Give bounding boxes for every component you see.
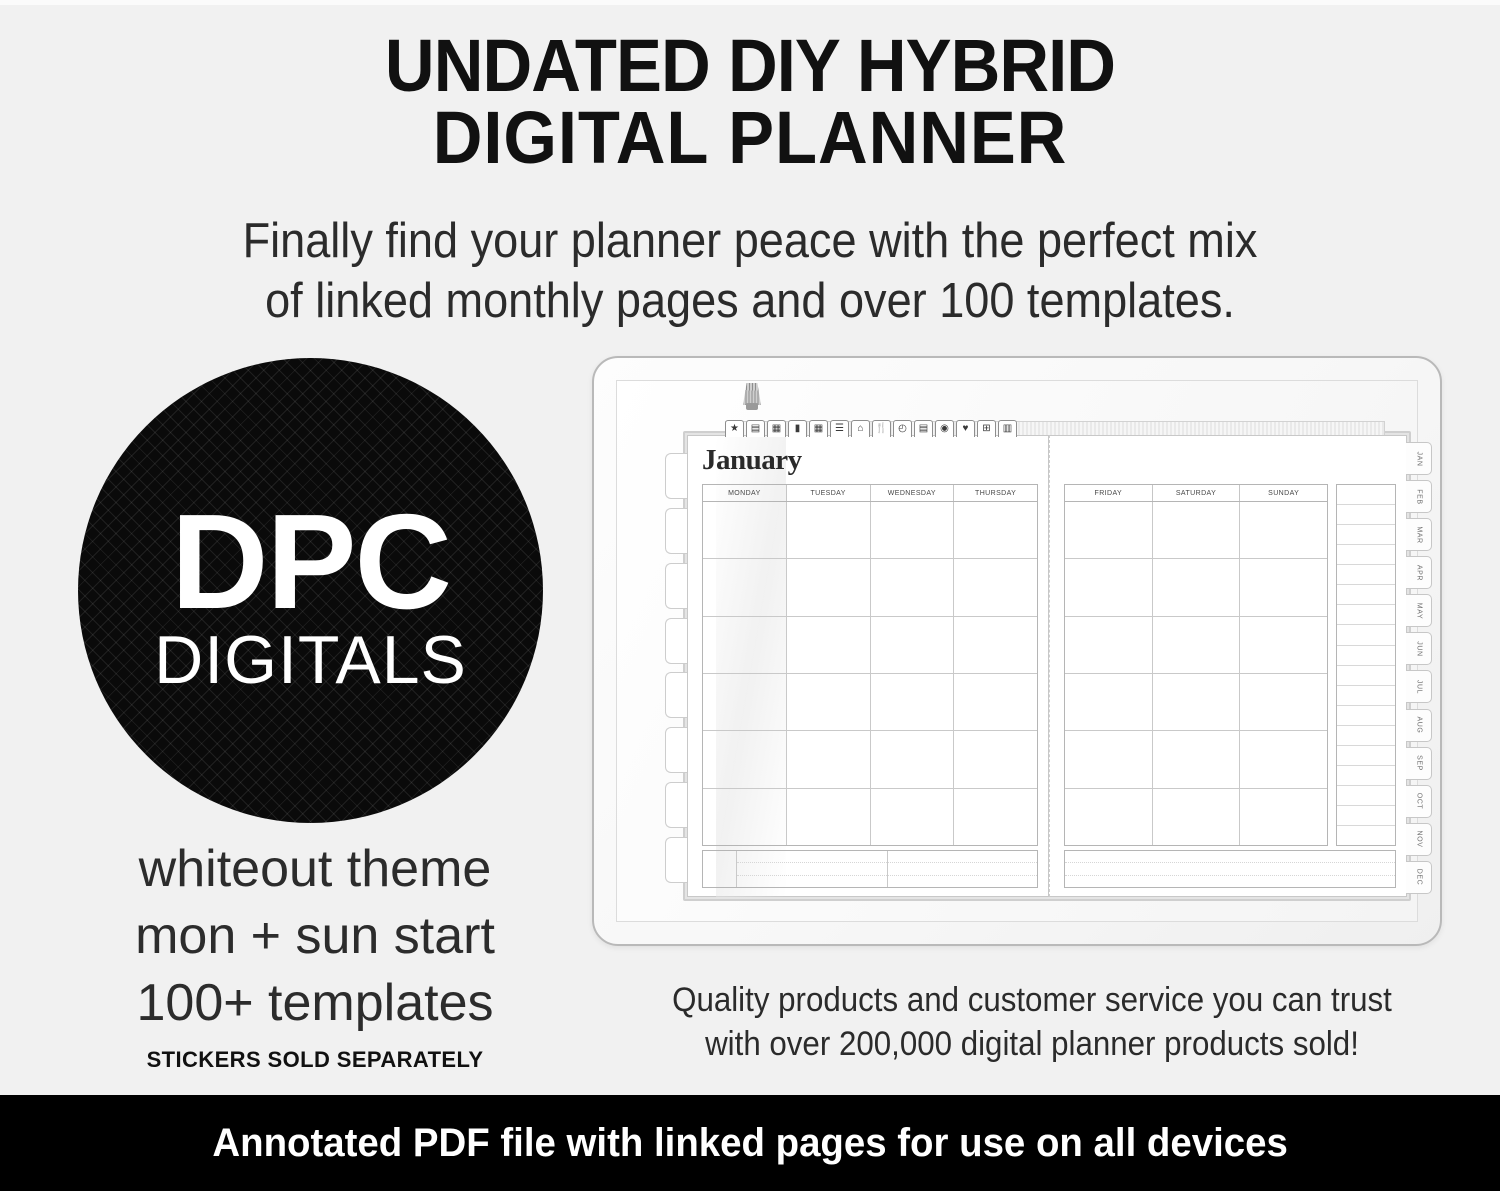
calendar-day-cell[interactable] xyxy=(703,674,787,730)
calendar-icon[interactable]: ▤ xyxy=(746,420,765,437)
list-icon[interactable]: ☰ xyxy=(830,420,849,437)
bottom-notes-left[interactable] xyxy=(702,850,1038,888)
star-icon[interactable]: ★ xyxy=(725,420,744,437)
calendar-day-cell[interactable] xyxy=(1065,731,1153,787)
month-tab-jan[interactable]: JAN xyxy=(1406,442,1432,475)
side-notes-column[interactable] xyxy=(1336,484,1396,846)
trust-line-1: Quality products and customer service yo… xyxy=(627,978,1437,1022)
note-line[interactable] xyxy=(1337,746,1395,766)
calendar-week-row xyxy=(703,789,1037,845)
subheadline-line-2: of linked monthly pages and over 100 tem… xyxy=(60,272,1440,332)
calendar-day-cell[interactable] xyxy=(703,502,787,558)
health-icon[interactable]: ⊞ xyxy=(977,420,996,437)
section-tab[interactable] xyxy=(665,727,687,773)
month-tabs[interactable]: JANFEBMARAPRMAYJUNJULAUGSEPOCTNOVDEC xyxy=(1406,442,1432,894)
logo-circle: DPC DIGITALS xyxy=(78,358,543,823)
bottom-notes-right[interactable] xyxy=(1064,850,1396,888)
weekday-label: THURSDAY xyxy=(954,485,1037,501)
month-tab-oct[interactable]: OCT xyxy=(1406,785,1432,818)
calendar-week-row xyxy=(703,559,1037,616)
weekday-label: FRIDAY xyxy=(1065,485,1153,501)
weekday-label: MONDAY xyxy=(703,485,787,501)
calendar-week-row xyxy=(703,731,1037,788)
note-line[interactable] xyxy=(1337,625,1395,645)
heart-icon[interactable]: ♥ xyxy=(956,420,975,437)
note-line[interactable] xyxy=(1337,485,1395,505)
bookmark-icon[interactable]: ▮ xyxy=(788,420,807,437)
trust-line-2: with over 200,000 digital planner produc… xyxy=(627,1022,1437,1066)
note-line[interactable] xyxy=(1337,605,1395,625)
calendar-day-cell[interactable] xyxy=(1065,789,1153,845)
month-tab-apr[interactable]: APR xyxy=(1406,556,1432,589)
note-line[interactable] xyxy=(1337,766,1395,786)
note-line[interactable] xyxy=(1337,806,1395,826)
note-line[interactable] xyxy=(1337,726,1395,746)
section-tab[interactable] xyxy=(665,837,687,883)
note-line[interactable] xyxy=(1337,786,1395,806)
brand-logo: DPC DIGITALS xyxy=(78,358,543,823)
notes-icon[interactable]: ▦ xyxy=(767,420,786,437)
calendar-day-cell[interactable] xyxy=(871,502,955,558)
month-tab-label: APR xyxy=(1415,565,1422,581)
pin-icon[interactable]: ◉ xyxy=(935,420,954,437)
calendar-day-cell[interactable] xyxy=(1065,559,1153,615)
calendar-day-cell[interactable] xyxy=(954,674,1037,730)
month-tab-dec[interactable]: DEC xyxy=(1406,861,1432,894)
note-line[interactable] xyxy=(1337,686,1395,706)
calendar-grid-left[interactable]: MONDAYTUESDAYWEDNESDAYTHURSDAY xyxy=(702,484,1038,846)
calendar-body-left xyxy=(702,501,1038,846)
planner-toolbar[interactable]: ★▤▦▮▦☰⌂🍴◴▤◉♥⊞▥ xyxy=(725,417,1385,437)
calendar-day-cell[interactable] xyxy=(954,789,1037,845)
note-line[interactable] xyxy=(1337,505,1395,525)
month-tab-jul[interactable]: JUL xyxy=(1406,670,1432,703)
calendar-day-cell[interactable] xyxy=(1240,674,1327,730)
clock-icon[interactable]: ◴ xyxy=(893,420,912,437)
subheadline-line-1: Finally find your planner peace with the… xyxy=(60,212,1440,272)
calendar-grid-right[interactable]: FRIDAYSATURDAYSUNDAY xyxy=(1064,484,1328,846)
calendar-day-cell[interactable] xyxy=(1153,502,1241,558)
calendar-day-cell[interactable] xyxy=(1153,731,1241,787)
calendar-week-row xyxy=(1065,617,1327,674)
month-tab-label: MAY xyxy=(1415,603,1422,619)
calendar-day-cell[interactable] xyxy=(1240,789,1327,845)
left-section-tabs[interactable] xyxy=(665,453,687,883)
month-tab-label: JAN xyxy=(1415,451,1422,466)
month-tab-feb[interactable]: FEB xyxy=(1406,480,1432,513)
feature-item-week-start: mon + sun start xyxy=(20,903,610,970)
tablet-frame: ★▤▦▮▦☰⌂🍴◴▤◉♥⊞▥ January MONDAYTUESDAYWEDN… xyxy=(592,356,1442,946)
calendar-day-cell[interactable] xyxy=(787,789,871,845)
logo-brand-text: DPC xyxy=(171,505,450,620)
calendar-body-right xyxy=(1064,501,1328,846)
month-tab-label: NOV xyxy=(1415,831,1422,848)
planner-spread: ★▤▦▮▦☰⌂🍴◴▤◉♥⊞▥ January MONDAYTUESDAYWEDN… xyxy=(687,435,1407,897)
feature-item-templates: 100+ templates xyxy=(20,970,610,1037)
food-icon[interactable]: 🍴 xyxy=(872,420,891,437)
home-icon[interactable]: ⌂ xyxy=(851,420,870,437)
calendar-week-row xyxy=(703,617,1037,674)
month-tab-label: MAR xyxy=(1415,526,1422,543)
subheadline: Finally find your planner peace with the… xyxy=(60,212,1440,332)
weekday-header-left: MONDAYTUESDAYWEDNESDAYTHURSDAY xyxy=(702,484,1038,501)
calendar-week-row xyxy=(1065,674,1327,731)
month-tab-label: DEC xyxy=(1415,869,1422,886)
headline-line-1: UNDATED DIY HYBRID xyxy=(53,30,1448,102)
note-line[interactable] xyxy=(1337,565,1395,585)
calendar-day-cell[interactable] xyxy=(871,789,955,845)
month-tab-nov[interactable]: NOV xyxy=(1406,823,1432,856)
calendar-day-cell[interactable] xyxy=(1240,731,1327,787)
folder-icon[interactable]: ▤ xyxy=(914,420,933,437)
month-tab-label: AUG xyxy=(1415,717,1422,734)
section-tab[interactable] xyxy=(665,563,687,609)
calendar-day-cell[interactable] xyxy=(703,731,787,787)
month-tab-label: JUL xyxy=(1415,680,1422,694)
tablet-screen: ★▤▦▮▦☰⌂🍴◴▤◉♥⊞▥ January MONDAYTUESDAYWEDN… xyxy=(616,380,1418,922)
calendar-week-row xyxy=(1065,559,1327,616)
feature-list: whiteout theme mon + sun start 100+ temp… xyxy=(20,836,610,1073)
weekday-label: SUNDAY xyxy=(1240,485,1327,501)
month-tab-label: FEB xyxy=(1415,489,1422,504)
calendar-day-cell[interactable] xyxy=(1065,617,1153,673)
logo-sub-text: DIGITALS xyxy=(154,626,467,694)
bottom-lines-a xyxy=(737,851,887,887)
stickers-note: STICKERS SOLD SEPARATELY xyxy=(20,1047,610,1073)
calendar-day-cell[interactable] xyxy=(1240,617,1327,673)
calendar-day-cell[interactable] xyxy=(1240,502,1327,558)
headline-line-2: DIGITAL PLANNER xyxy=(53,102,1448,174)
month-tab-jun[interactable]: JUN xyxy=(1406,632,1432,665)
section-tab[interactable] xyxy=(665,618,687,664)
tassel-knot xyxy=(746,403,758,410)
section-tab[interactable] xyxy=(665,508,687,554)
calendar-day-cell[interactable] xyxy=(787,502,871,558)
trust-text: Quality products and customer service yo… xyxy=(627,978,1437,1066)
calendar-day-cell[interactable] xyxy=(1153,617,1241,673)
note-line[interactable] xyxy=(1337,706,1395,726)
note-line[interactable] xyxy=(1337,666,1395,686)
weekday-label: SATURDAY xyxy=(1153,485,1241,501)
planner-page-right: FRIDAYSATURDAYSUNDAY JANFEBMARAPRMAYJUNJ… xyxy=(1049,435,1407,897)
bookmark-tassel-icon xyxy=(743,383,761,419)
month-tab-may[interactable]: MAY xyxy=(1406,594,1432,627)
calendar-day-cell[interactable] xyxy=(787,731,871,787)
calendar-day-cell[interactable] xyxy=(871,559,955,615)
calendar-day-cell[interactable] xyxy=(871,617,955,673)
calendar-day-cell[interactable] xyxy=(703,617,787,673)
tassel-fringe xyxy=(743,383,761,405)
calendar-day-cell[interactable] xyxy=(1065,674,1153,730)
planner-preview: ★▤▦▮▦☰⌂🍴◴▤◉♥⊞▥ January MONDAYTUESDAYWEDN… xyxy=(592,356,1442,946)
calendar-day-cell[interactable] xyxy=(954,502,1037,558)
calendar-day-cell[interactable] xyxy=(787,559,871,615)
planner-page-left: January MONDAYTUESDAYWEDNESDAYTHURSDAY xyxy=(687,435,1049,897)
month-tab-sep[interactable]: SEP xyxy=(1406,747,1432,780)
calendar-day-cell[interactable] xyxy=(954,559,1037,615)
month-tab-label: JUN xyxy=(1415,641,1422,656)
grid-icon[interactable]: ▦ xyxy=(809,420,828,437)
month-tab-mar[interactable]: MAR xyxy=(1406,518,1432,551)
note-line[interactable] xyxy=(1337,826,1395,845)
bottom-lines-c xyxy=(1065,851,1395,887)
month-tab-aug[interactable]: AUG xyxy=(1406,709,1432,742)
month-title: January xyxy=(702,444,802,477)
weekday-label: WEDNESDAY xyxy=(871,485,955,501)
calendar-day-cell[interactable] xyxy=(1153,789,1241,845)
footer-banner: Annotated PDF file with linked pages for… xyxy=(0,1095,1500,1191)
calendar-day-cell[interactable] xyxy=(954,731,1037,787)
calendar-day-cell[interactable] xyxy=(1153,674,1241,730)
calendar-day-cell[interactable] xyxy=(703,789,787,845)
calendar-day-cell[interactable] xyxy=(1153,559,1241,615)
calendar-week-row xyxy=(1065,502,1327,559)
calendar-day-cell[interactable] xyxy=(703,559,787,615)
calendar-week-row xyxy=(703,674,1037,731)
calendar-day-cell[interactable] xyxy=(787,617,871,673)
note-line[interactable] xyxy=(1337,525,1395,545)
note-line[interactable] xyxy=(1337,646,1395,666)
month-tab-label: SEP xyxy=(1415,755,1422,771)
weekday-label: TUESDAY xyxy=(787,485,871,501)
bottom-lines-b xyxy=(888,851,1038,887)
page-title: UNDATED DIY HYBRID DIGITAL PLANNER xyxy=(53,30,1448,174)
calendar-day-cell[interactable] xyxy=(787,674,871,730)
calendar-day-cell[interactable] xyxy=(871,731,955,787)
note-line[interactable] xyxy=(1337,545,1395,565)
month-tab-label: OCT xyxy=(1415,793,1422,810)
feature-item-theme: whiteout theme xyxy=(20,836,610,903)
calendar-week-row xyxy=(703,502,1037,559)
note-line[interactable] xyxy=(1337,585,1395,605)
top-strip xyxy=(0,0,1500,5)
calendar-week-row xyxy=(1065,789,1327,845)
footer-text: Annotated PDF file with linked pages for… xyxy=(212,1121,1287,1166)
calendar-day-cell[interactable] xyxy=(871,674,955,730)
calendar-week-row xyxy=(1065,731,1327,788)
section-tab[interactable] xyxy=(665,782,687,828)
calendar-day-cell[interactable] xyxy=(1065,502,1153,558)
calendar-day-cell[interactable] xyxy=(1240,559,1327,615)
library-icon[interactable]: ▥ xyxy=(998,420,1017,437)
section-tab[interactable] xyxy=(665,672,687,718)
calendar-day-cell[interactable] xyxy=(954,617,1037,673)
section-tab[interactable] xyxy=(665,453,687,499)
weekday-header-right: FRIDAYSATURDAYSUNDAY xyxy=(1064,484,1328,501)
